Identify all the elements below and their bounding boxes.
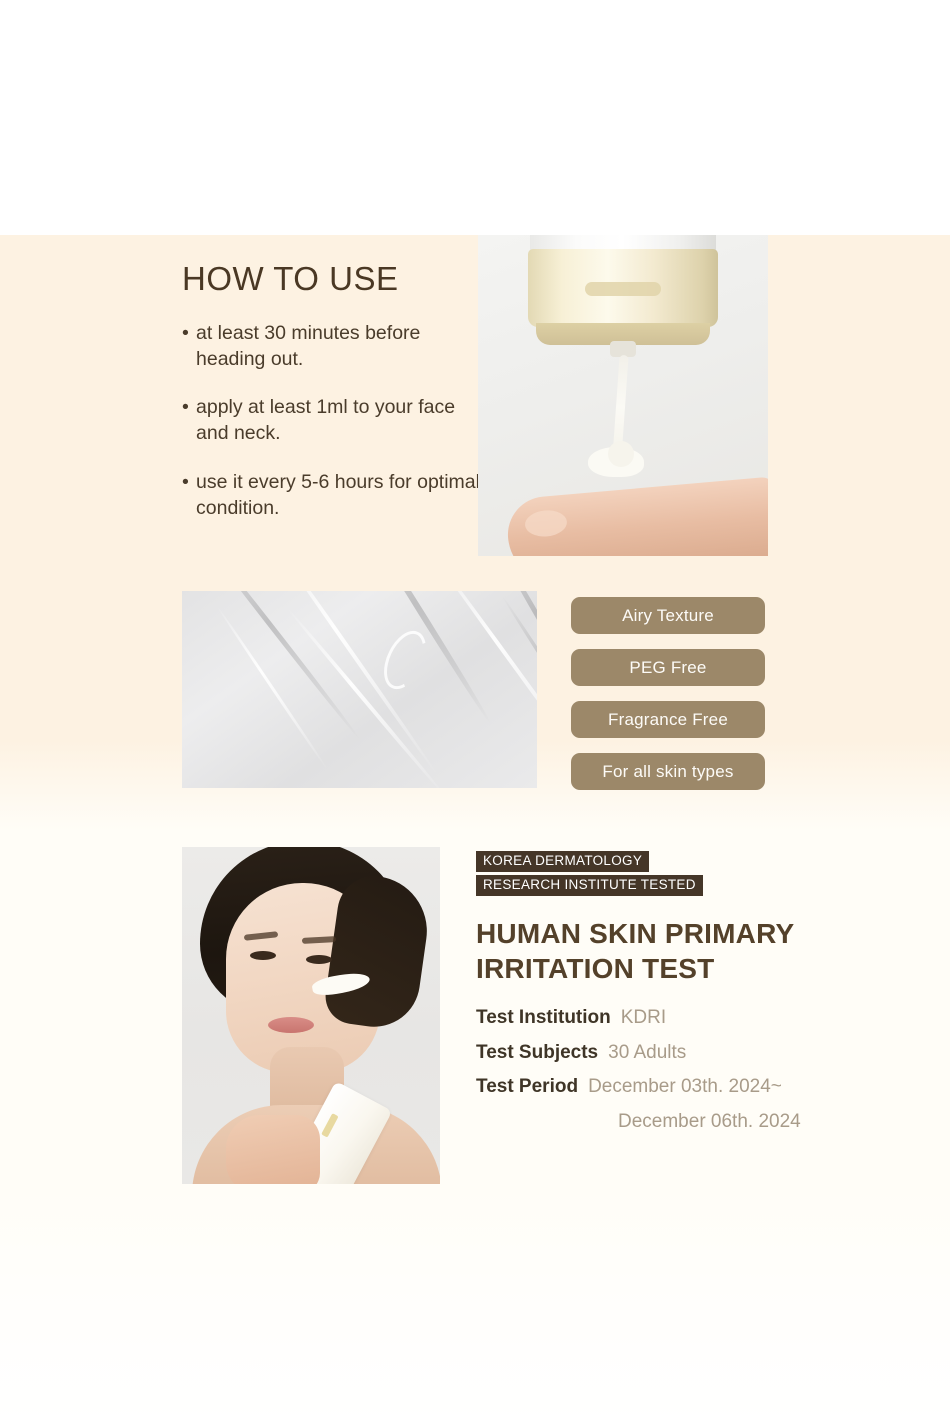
test-detail-value: 30 Adults [608, 1039, 686, 1068]
how-to-use-item: • use it every 5-6 hours for optimal con… [182, 470, 482, 521]
cream-blob-highlight [608, 441, 634, 467]
test-detail-label: Test Subjects [476, 1039, 598, 1068]
bottle-cap [528, 249, 718, 327]
model-eye [250, 951, 276, 960]
test-detail-value: December 03th. 2024~ [588, 1073, 782, 1102]
model-hand [226, 1115, 320, 1184]
clinical-test-section: KOREA DERMATOLOGY RESEARCH INSTITUTE TES… [476, 851, 876, 1136]
cream-texture-photo [182, 591, 537, 788]
test-tag-group: KOREA DERMATOLOGY RESEARCH INSTITUTE TES… [476, 851, 876, 899]
how-to-use-item-text: apply at least 1ml to your face and neck… [196, 396, 455, 444]
how-to-use-item-text: use it every 5-6 hours for optimal condi… [196, 471, 480, 519]
feature-badge-all-skin-types: For all skin types [571, 753, 765, 790]
test-detail-row-subjects: Test Subjects 30 Adults [476, 1039, 876, 1068]
bullet-icon: • [182, 321, 189, 347]
feature-badge-fragrance-free: Fragrance Free [571, 701, 765, 738]
test-detail-row-period: Test Period December 03th. 2024~ [476, 1073, 876, 1102]
how-to-use-item-text: at least 30 minutes before heading out. [196, 322, 420, 370]
how-to-use-item: • at least 30 minutes before heading out… [182, 321, 482, 372]
test-detail-row-institution: Test Institution KDRI [476, 1004, 876, 1033]
clinical-test-title: HUMAN SKIN PRIMARY IRRITATION TEST [476, 916, 876, 986]
how-to-use-section: HOW TO USE • at least 30 minutes before … [182, 262, 482, 521]
how-to-use-item: • apply at least 1ml to your face and ne… [182, 395, 482, 446]
background-band-bottom [0, 1190, 950, 1425]
background-band-top [0, 0, 950, 235]
test-tag-korea-dermatology: KOREA DERMATOLOGY [476, 851, 649, 872]
feature-badge-peg-free: PEG Free [571, 649, 765, 686]
test-detail-label: Test Institution [476, 1004, 611, 1033]
bullet-icon: • [182, 470, 189, 496]
test-detail-row-period-continued: December 06th. 2024 [476, 1108, 876, 1137]
test-detail-value-second-line: December 06th. 2024 [486, 1108, 876, 1137]
how-to-use-list: • at least 30 minutes before heading out… [182, 321, 482, 521]
product-dispensing-photo [478, 235, 768, 556]
model-eye [306, 955, 332, 964]
feature-badge-airy-texture: Airy Texture [571, 597, 765, 634]
test-tag-research-institute-tested: RESEARCH INSTITUTE TESTED [476, 875, 703, 896]
texture-sheen [376, 624, 435, 695]
model-lips [268, 1017, 314, 1033]
product-detail-page: HOW TO USE • at least 30 minutes before … [0, 0, 950, 1425]
texture-streak [285, 606, 449, 788]
test-detail-value: KDRI [621, 1004, 666, 1033]
bullet-icon: • [182, 395, 189, 421]
how-to-use-title: HOW TO USE [182, 262, 482, 295]
feature-badge-list: Airy Texture PEG Free Fragrance Free For… [571, 597, 765, 790]
model-product-photo [182, 847, 440, 1184]
clinical-test-detail-list: Test Institution KDRI Test Subjects 30 A… [476, 1004, 876, 1136]
fingertip [505, 476, 768, 556]
test-detail-label: Test Period [476, 1073, 578, 1102]
